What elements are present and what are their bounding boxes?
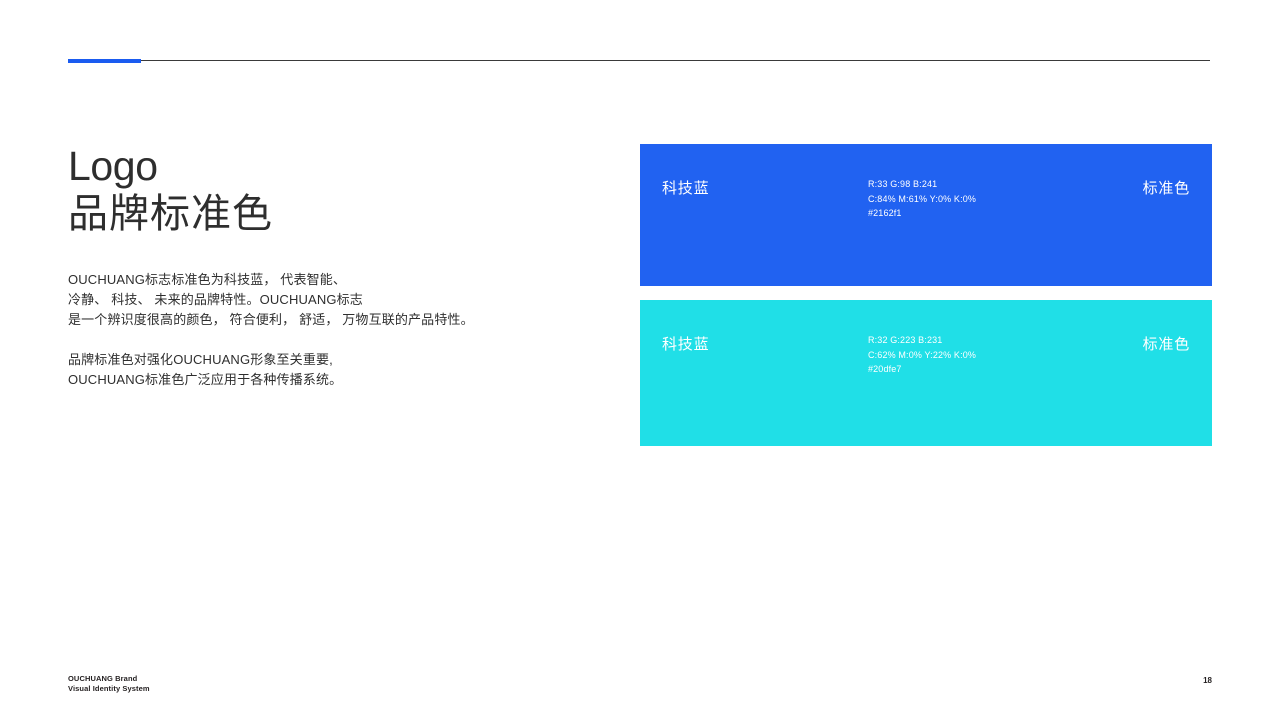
footer-brand-line-1: OUCHUANG Brand	[68, 674, 150, 684]
body-paragraph-1-line-1: OUCHUANG标志标准色为科技蓝， 代表智能、	[68, 270, 568, 290]
swatch-primary-name: 科技蓝	[662, 177, 709, 198]
color-swatch-primary: 科技蓝 R:33 G:98 B:241 C:84% M:61% Y:0% K:0…	[640, 144, 1212, 286]
header-rule-line	[68, 60, 1210, 61]
swatch-primary-cmyk: C:84% M:61% Y:0% K:0%	[868, 192, 976, 207]
body-paragraph-2-line-1: 品牌标准色对强化OUCHUANG形象至关重要,	[68, 350, 568, 370]
color-swatch-secondary: 科技蓝 R:32 G:223 B:231 C:62% M:0% Y:22% K:…	[640, 300, 1212, 446]
page-title: Logo 品牌标准色	[68, 144, 568, 236]
swatch-secondary-spec: R:32 G:223 B:231 C:62% M:0% Y:22% K:0% #…	[868, 333, 976, 377]
swatch-secondary-hex: #20dfe7	[868, 362, 976, 377]
body-paragraph-1: OUCHUANG标志标准色为科技蓝， 代表智能、 冷静、 科技、 未来的品牌特性…	[68, 270, 568, 330]
left-content-column: Logo 品牌标准色 OUCHUANG标志标准色为科技蓝， 代表智能、 冷静、 …	[68, 144, 568, 390]
swatch-secondary-cmyk: C:62% M:0% Y:22% K:0%	[868, 348, 976, 363]
body-copy: OUCHUANG标志标准色为科技蓝， 代表智能、 冷静、 科技、 未来的品牌特性…	[68, 270, 568, 390]
body-paragraph-1-line-3: 是一个辨识度很高的颜色， 符合便利， 舒适， 万物互联的产品特性。	[68, 310, 568, 330]
body-paragraph-2: 品牌标准色对强化OUCHUANG形象至关重要, OUCHUANG标准色广泛应用于…	[68, 350, 568, 390]
accent-bar	[68, 59, 141, 63]
swatch-primary-spec: R:33 G:98 B:241 C:84% M:61% Y:0% K:0% #2…	[868, 177, 976, 221]
body-paragraph-1-line-2: 冷静、 科技、 未来的品牌特性。OUCHUANG标志	[68, 290, 568, 310]
swatch-secondary-role: 标准色	[1143, 333, 1190, 354]
footer-brand-line-2: Visual Identity System	[68, 684, 150, 694]
page-number: 18	[1203, 676, 1212, 685]
swatch-primary-rgb: R:33 G:98 B:241	[868, 177, 976, 192]
page-title-cn: 品牌标准色	[68, 193, 568, 236]
swatch-secondary-name: 科技蓝	[662, 333, 709, 354]
swatch-primary-hex: #2162f1	[868, 206, 976, 221]
body-paragraph-2-line-2: OUCHUANG标准色广泛应用于各种传播系统。	[68, 370, 568, 390]
footer-brand: OUCHUANG Brand Visual Identity System	[68, 674, 150, 694]
slide-page: { "page": { "background": "#ffffff", "ac…	[0, 0, 1280, 720]
swatch-primary-role: 标准色	[1143, 177, 1190, 198]
page-title-en: Logo	[68, 144, 568, 188]
swatch-secondary-rgb: R:32 G:223 B:231	[868, 333, 976, 348]
header-rule	[68, 59, 1210, 63]
